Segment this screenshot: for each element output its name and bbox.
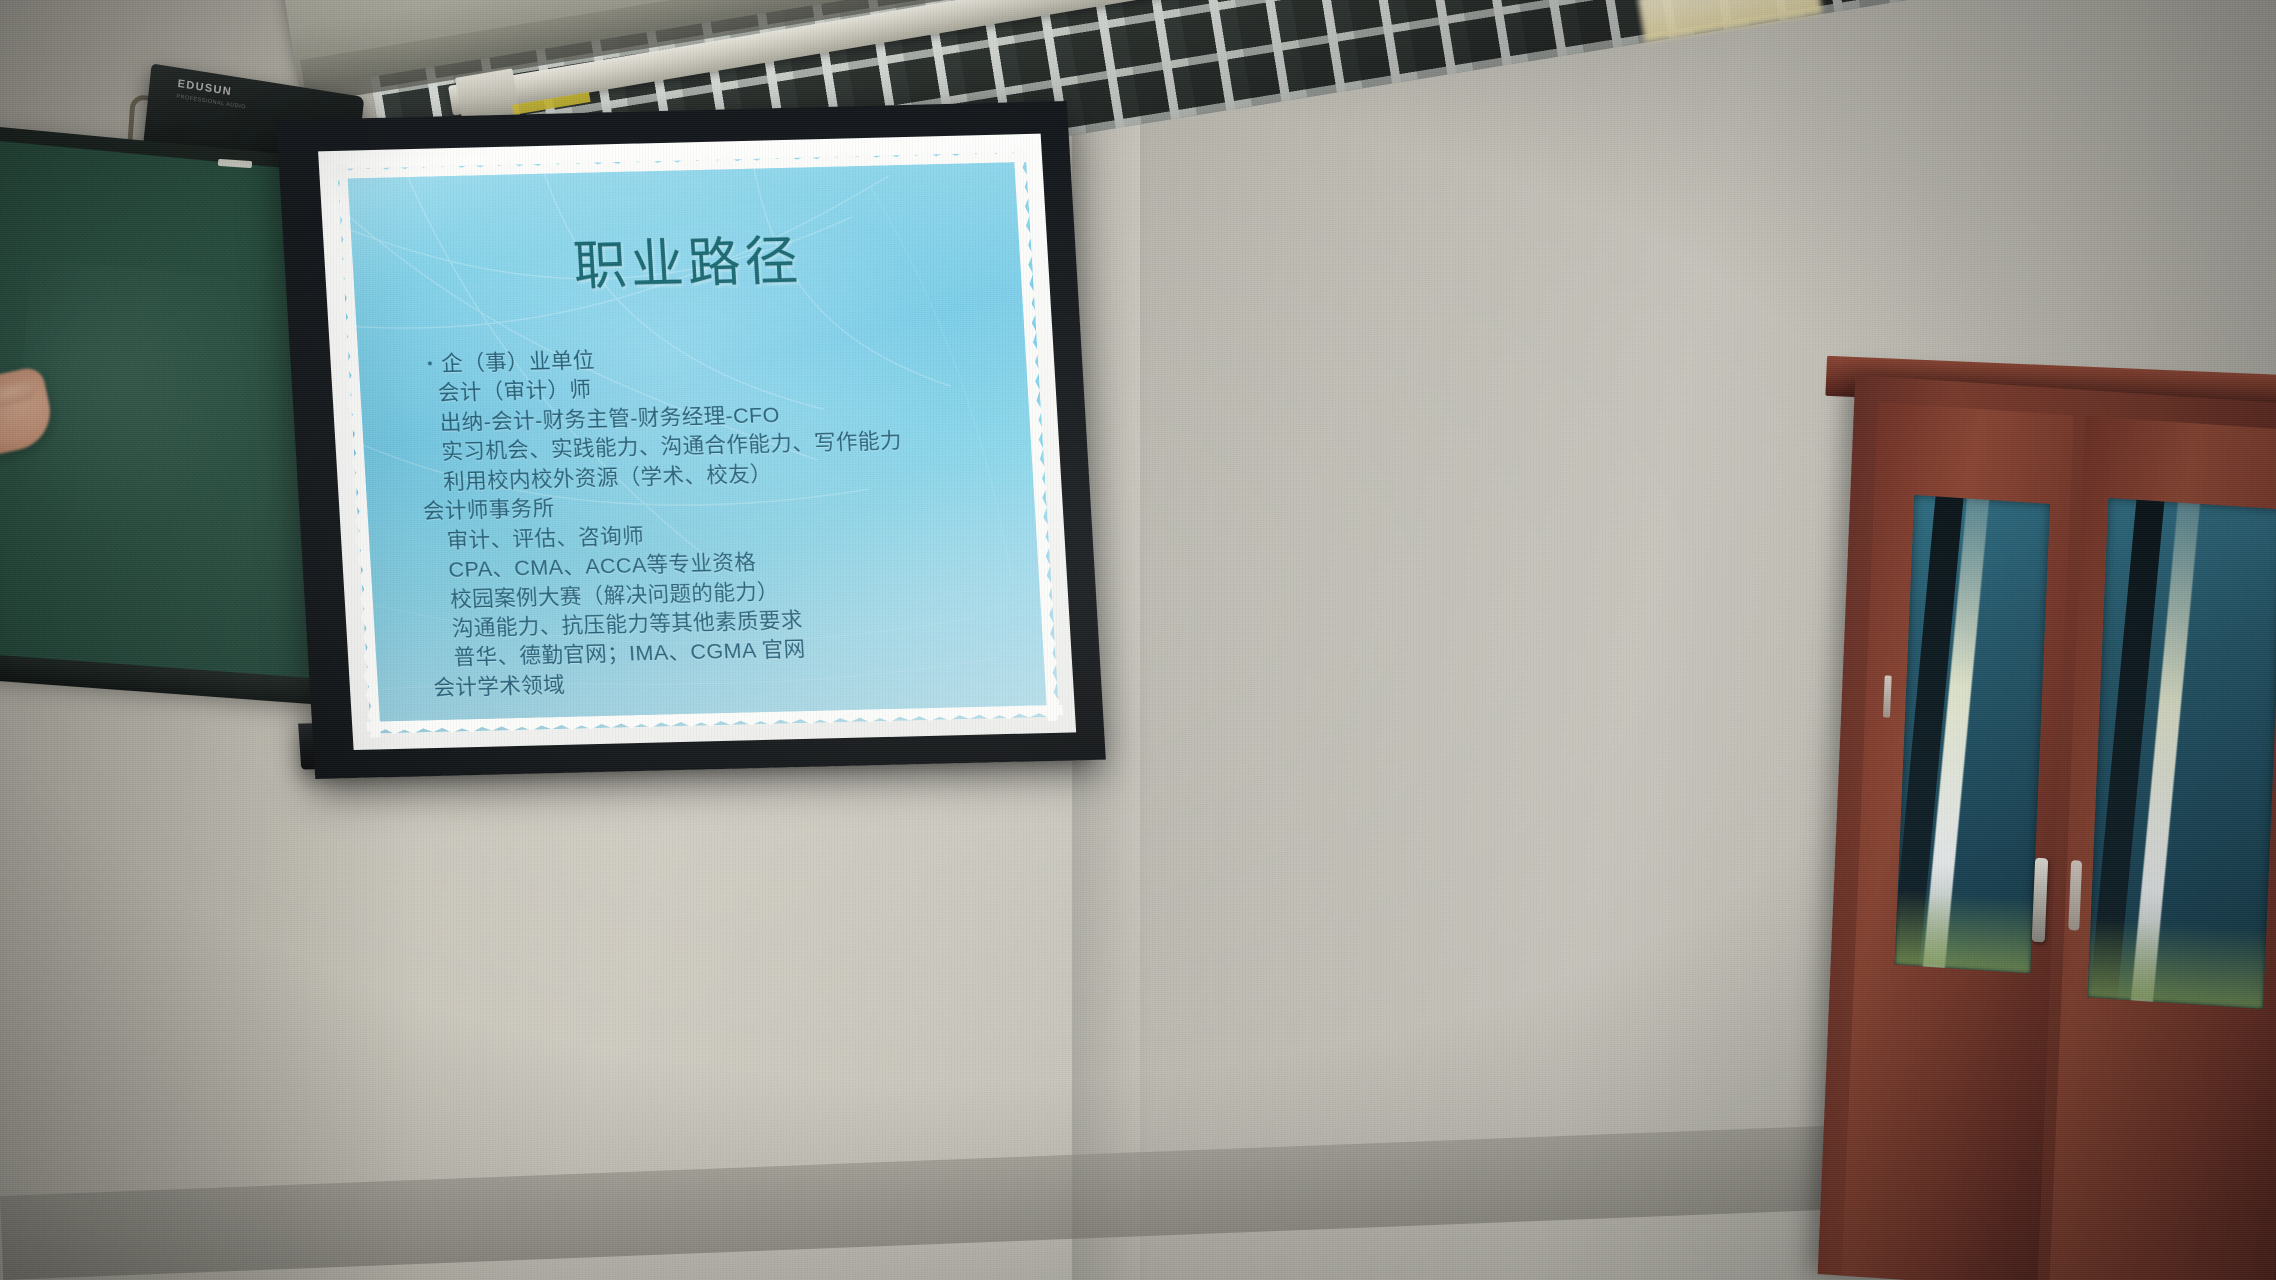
door-leaf-left[interactable] [1842, 402, 2074, 1280]
slide-content: 职业路径 企（事）业单位 会计（审计）师 出纳-会计-财务主管-财务经理-CFO… [337, 152, 1059, 734]
slide-body-list: 企（事）业单位 会计（审计）师 出纳-会计-财务主管-财务经理-CFO 实习机会… [413, 336, 1030, 703]
lighting-left-falloff [0, 0, 420, 1280]
slide-title: 职业路径 [341, 213, 1034, 306]
powerpoint-slide: 职业路径 企（事）业单位 会计（审计）师 出纳-会计-财务主管-财务经理-CFO… [337, 152, 1059, 734]
door-glass-left [1895, 495, 2050, 974]
classroom-scene: EDUSUN PROFESSIONAL AUDIO [0, 0, 2276, 1280]
door-glass-right [2087, 498, 2276, 1009]
bullet-dot-icon [428, 361, 432, 365]
door[interactable] [1818, 375, 2276, 1280]
door-hinge [1883, 675, 1892, 717]
door-leaf-right[interactable] [2049, 416, 2276, 1280]
screen-white-surface: 职业路径 企（事）业单位 会计（审计）师 出纳-会计-财务主管-财务经理-CFO… [318, 134, 1076, 750]
slide-line-text: 企（事）业单位 [441, 348, 596, 376]
